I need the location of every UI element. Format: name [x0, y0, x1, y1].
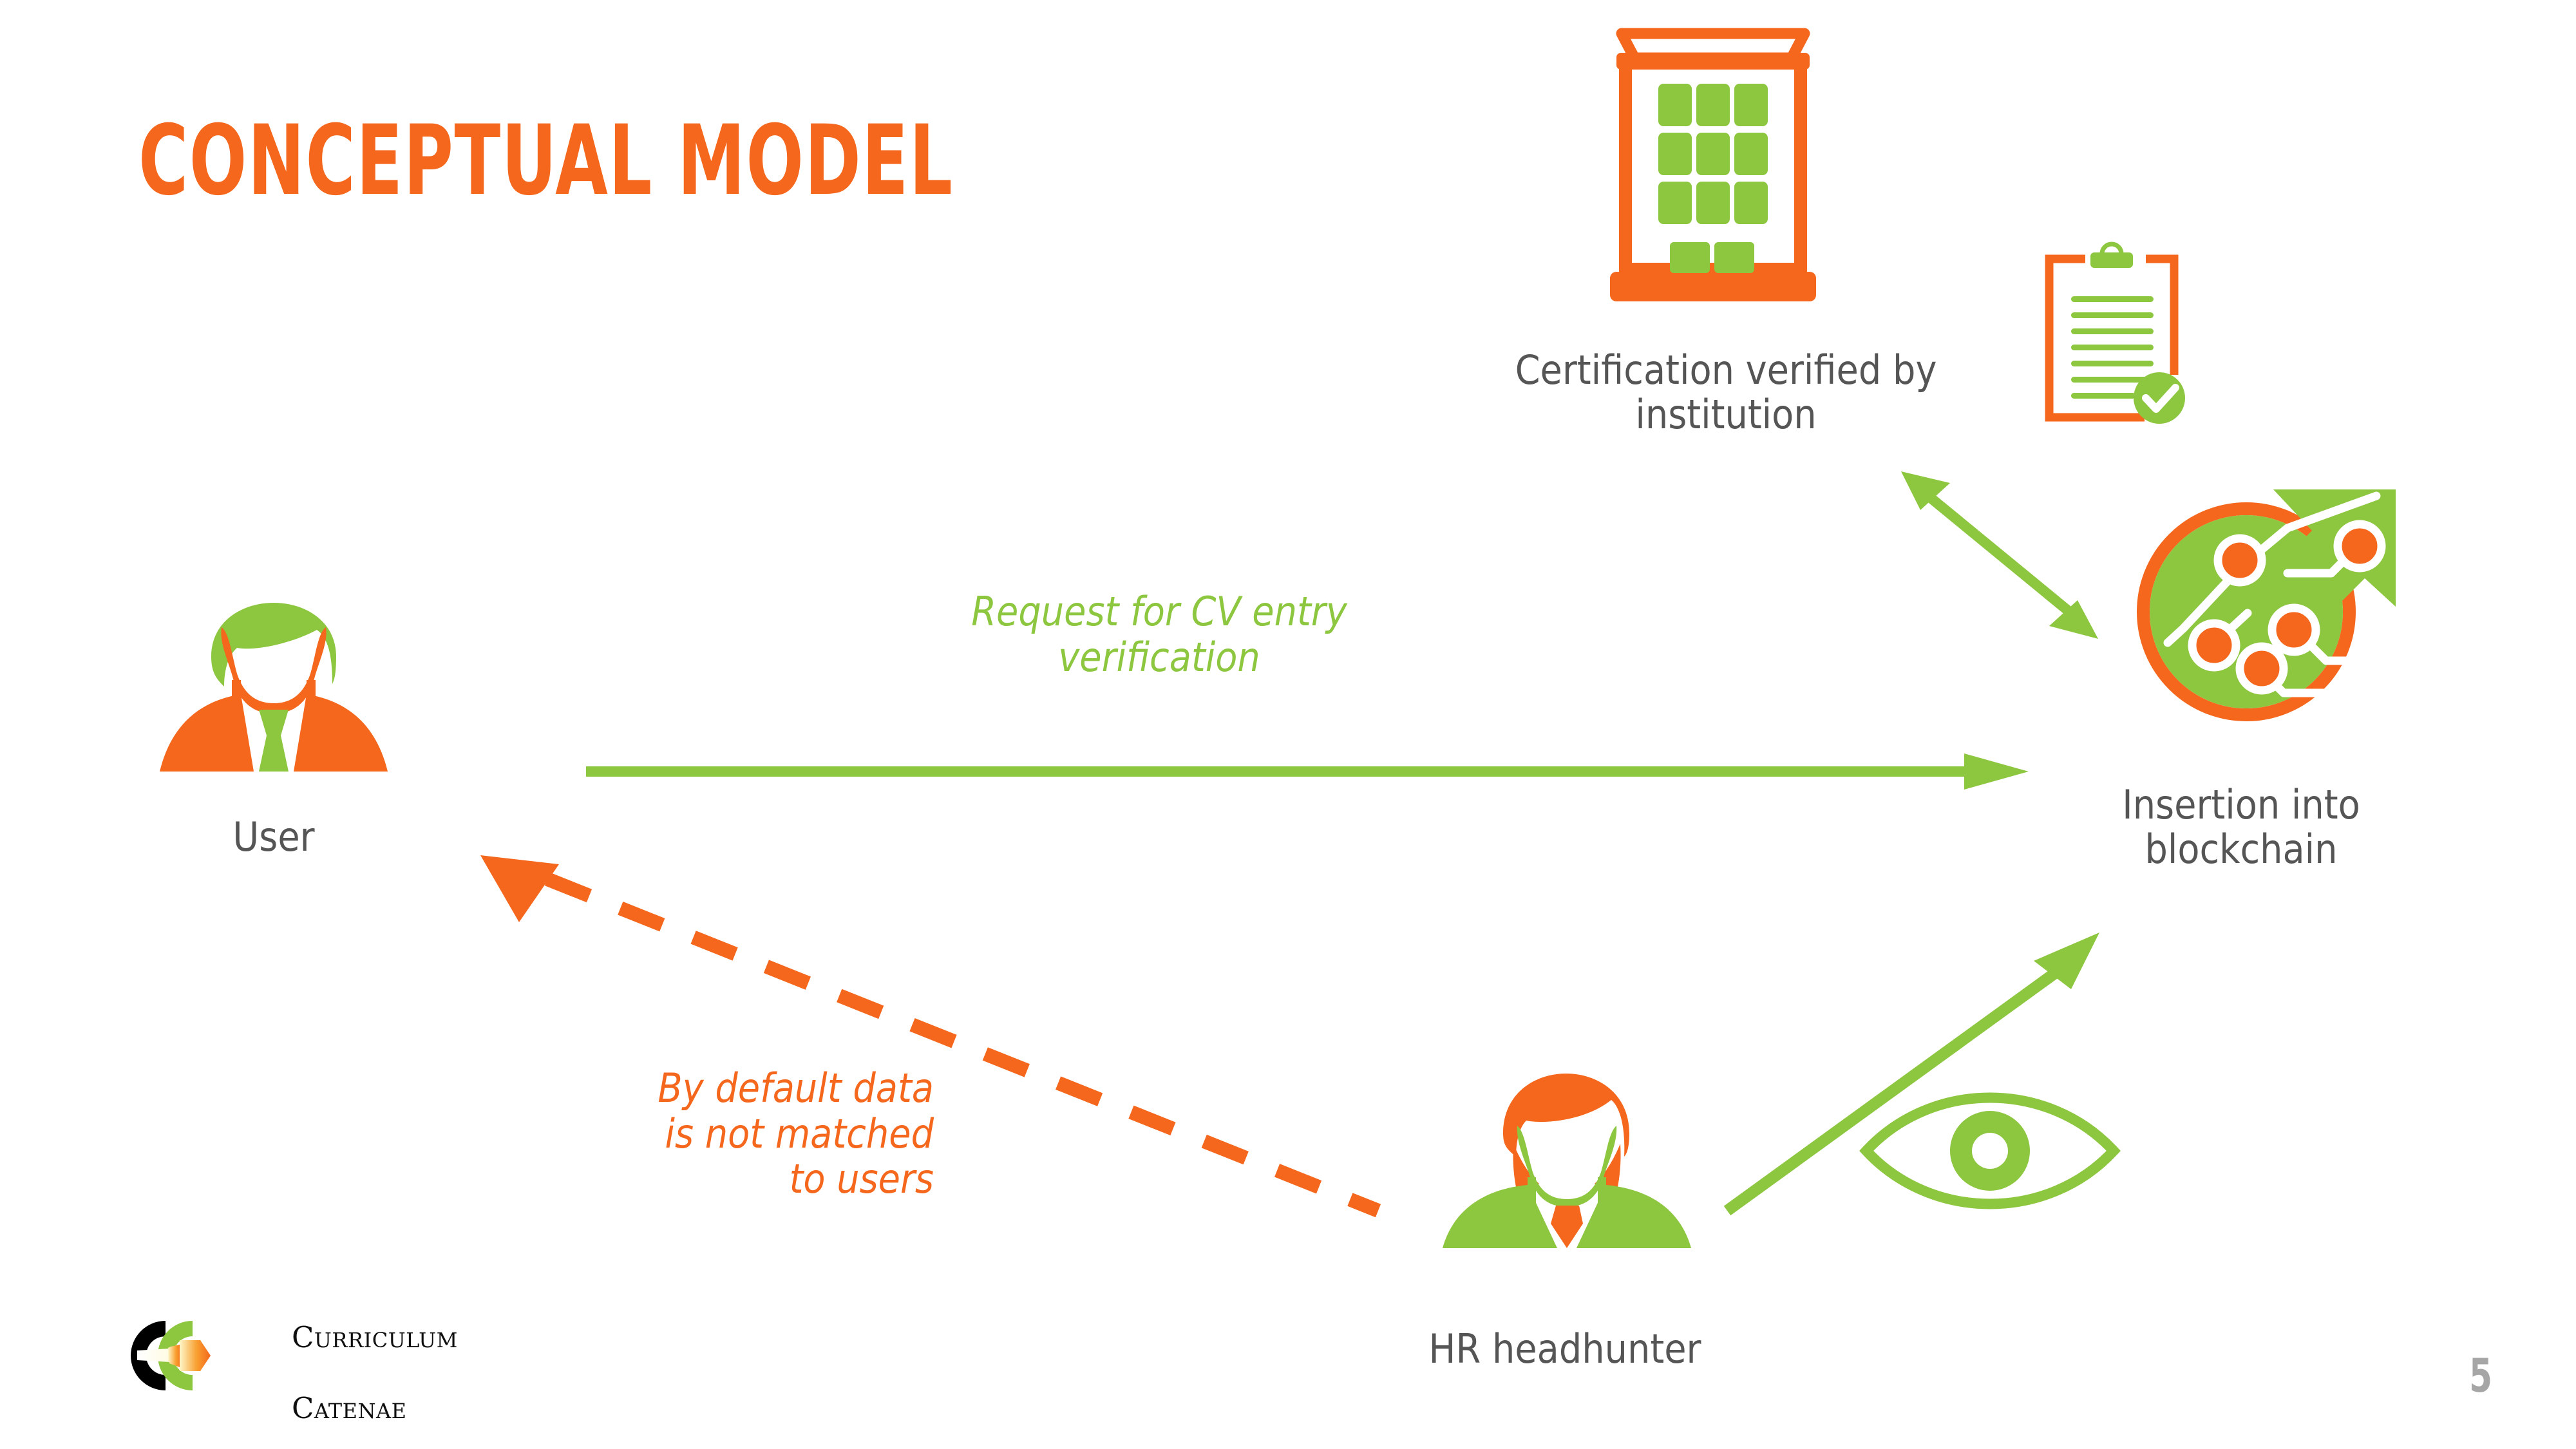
headhunter-label: HR headhunter: [1340, 1327, 1790, 1371]
logo-mark-icon: [126, 1312, 274, 1399]
page-title: CONCEPTUAL MODEL: [138, 113, 954, 209]
logo-line-1: Curriculum: [292, 1320, 458, 1354]
logo-wordmark: Curriculum Catenae: [292, 1285, 458, 1426]
institution-label: Certification verified by institution: [1436, 348, 2016, 437]
logo-line-2: Catenae: [292, 1391, 406, 1425]
no-match-label: By default data is not matched to users: [515, 1066, 934, 1202]
brand-logo: Curriculum Catenae: [126, 1285, 458, 1426]
request-verification-arrow: [580, 741, 2054, 811]
page-number: 5: [2469, 1349, 2492, 1403]
blockchain-label: Insertion into blockchain: [2041, 782, 2441, 872]
slide-canvas: CONCEPTUAL MODEL Certif: [0, 0, 2576, 1449]
institution-building-icon: [1604, 19, 1823, 328]
user-avatar-icon: [155, 560, 393, 773]
hr-headhunter-avatar-icon: [1436, 1030, 1694, 1249]
user-label: User: [145, 815, 402, 859]
blockchain-node-icon: [2119, 470, 2415, 728]
eye-icon: [1861, 1085, 2119, 1220]
verify-exchange-double-arrow: [1880, 451, 2138, 663]
clipboard-verified-icon: [2035, 232, 2202, 431]
request-verification-label: Request for CV entry verification: [902, 589, 1417, 680]
